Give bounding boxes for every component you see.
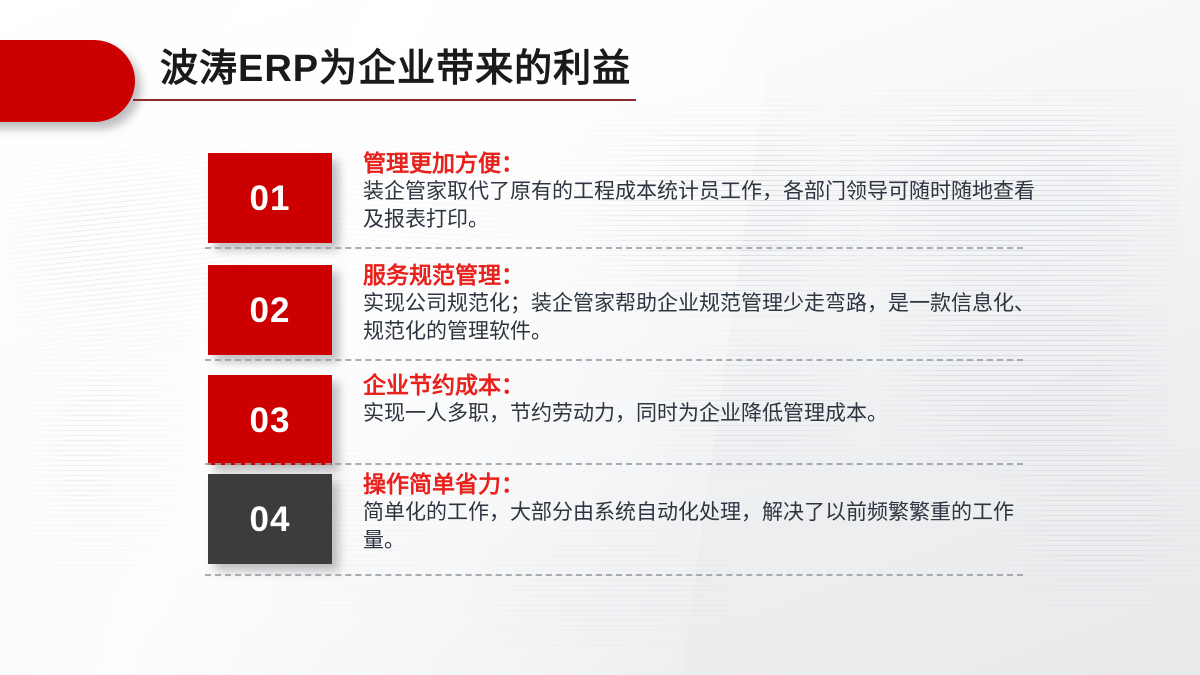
item-body: 简单化的工作，大部分由系统自动化处理，解决了以前频繁繁重的工作量。 [363, 499, 1053, 554]
item-heading: 管理更加方便： [363, 149, 1053, 178]
item-heading: 服务规范管理： [363, 261, 1053, 290]
item-number-badge: 04 [208, 474, 332, 564]
item-number-label: 01 [250, 181, 291, 216]
header-accent-tab [0, 40, 135, 122]
header-underline [133, 99, 636, 101]
map-region-shape [30, 330, 200, 590]
item-divider [205, 247, 1023, 249]
item-divider [205, 574, 1023, 576]
item-text-block: 服务规范管理： 实现公司规范化；装企管家帮助企业规范管理少走弯路，是一款信息化、… [363, 261, 1053, 345]
item-number-label: 03 [250, 403, 291, 438]
item-text-block: 管理更加方便： 装企管家取代了原有的工程成本统计员工作，各部门领导可随时随地查看… [363, 149, 1053, 233]
item-body: 装企管家取代了原有的工程成本统计员工作，各部门领导可随时随地查看及报表打印。 [363, 178, 1053, 233]
slide-canvas: 波涛ERP为企业带来的利益 01 管理更加方便： 装企管家取代了原有的工程成本统… [0, 0, 1200, 675]
item-body: 实现公司规范化；装企管家帮助企业规范管理少走弯路，是一款信息化、规范化的管理软件… [363, 290, 1053, 345]
item-text-block: 操作简单省力： 简单化的工作，大部分由系统自动化处理，解决了以前频繁繁重的工作量… [363, 470, 1053, 554]
page-title: 波涛ERP为企业带来的利益 [160, 37, 631, 92]
item-number-badge: 03 [208, 375, 332, 465]
item-number-label: 02 [250, 293, 291, 328]
item-divider [205, 359, 1023, 361]
item-divider [205, 463, 1023, 465]
item-text-block: 企业节约成本： 实现一人多职，节约劳动力，同时为企业降低管理成本。 [363, 371, 1053, 428]
item-heading: 操作简单省力： [363, 470, 1053, 499]
item-heading: 企业节约成本： [363, 371, 1053, 400]
item-body: 实现一人多职，节约劳动力，同时为企业降低管理成本。 [363, 400, 1053, 427]
item-number-badge: 01 [208, 153, 332, 243]
item-number-label: 04 [250, 502, 291, 537]
item-number-badge: 02 [208, 265, 332, 355]
